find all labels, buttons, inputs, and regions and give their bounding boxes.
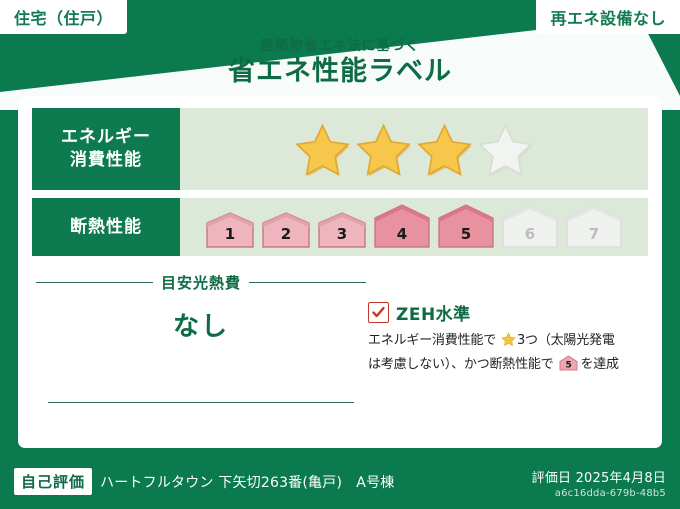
- insulation-grade-badge-number: 3: [316, 227, 368, 242]
- zeh-desc-part1: エネルギー消費性能で: [368, 333, 496, 348]
- zeh-desc-part3: は考慮しない）、かつ断熱性能で: [368, 357, 554, 372]
- property-name: ハートフルタウン 下矢切263番(亀戸) A号棟: [100, 472, 394, 492]
- insulation-performance-label: 断熱性能: [32, 198, 180, 256]
- label-footer: 自己評価 ハートフルタウン 下矢切263番(亀戸) A号棟 評価日 2025年4…: [0, 453, 680, 509]
- star-icon: [294, 122, 351, 177]
- insulation-grade-badge-3: 3: [316, 211, 368, 249]
- tab-building-type-label: 住宅（住戸）: [14, 5, 113, 29]
- insulation-grade-badge-number: 2: [260, 227, 312, 242]
- insulation-grade-badge-number: 6: [500, 227, 560, 242]
- self-evaluation-badge: 自己評価: [14, 468, 92, 495]
- insulation-grade-scale: 1234567: [204, 203, 624, 251]
- insulation-grade-badge-1: 1: [204, 211, 256, 249]
- insulation-grade-inline-badge: 5: [556, 360, 579, 375]
- tab-renewable-energy: 再エネ設備なし: [536, 0, 680, 34]
- insulation-performance-row: 断熱性能 1234567: [32, 198, 648, 256]
- utility-cost-bottom-rule: [48, 402, 354, 403]
- zeh-title: ZEH水準: [396, 300, 471, 325]
- utility-cost-rule-left: [36, 282, 153, 283]
- insulation-grade-badge-number: 7: [564, 227, 624, 242]
- tab-building-type: 住宅（住戸）: [0, 0, 127, 34]
- zeh-desc-part2: 3つ（太陽光発電: [517, 333, 615, 348]
- energy-performance-row: エネルギー 消費性能: [32, 108, 648, 190]
- insulation-grade-badge-number: 1: [204, 227, 256, 242]
- utility-cost-header: 目安光熱費: [36, 272, 366, 293]
- energy-performance-value: [180, 108, 648, 190]
- insulation-grade-badge-7: 7: [564, 203, 624, 249]
- title-main: 省エネ性能ラベル: [0, 55, 680, 89]
- star-icon: [355, 122, 412, 177]
- utility-cost-title: 目安光熱費: [161, 272, 241, 293]
- star-rating: [294, 122, 534, 177]
- utility-cost-value: なし: [36, 306, 366, 343]
- insulation-grade-badge-number: 4: [372, 227, 432, 242]
- insulation-grade-badge-6: 6: [500, 203, 560, 249]
- insulation-performance-label-text: 断熱性能: [70, 216, 142, 239]
- insulation-performance-value: 1234567: [180, 198, 648, 256]
- main-card: エネルギー 消費性能 断熱性能 1234567 目安光熱費 なし: [18, 96, 662, 448]
- check-icon: [368, 302, 389, 323]
- energy-performance-label: エネルギー 消費性能: [32, 108, 180, 190]
- evaluation-date: 評価日 2025年4月8日: [532, 467, 666, 486]
- insulation-grade-badge-5: 5: [436, 203, 496, 249]
- footer-right-group: 評価日 2025年4月8日 a6c16dda-679b-48b5: [532, 467, 666, 499]
- title-subtitle: 建築物省エネ法に基づく: [0, 38, 680, 54]
- insulation-grade-badge-2: 2: [260, 211, 312, 249]
- insulation-grade-badge-number: 5: [436, 227, 496, 242]
- zeh-desc-part4: を達成: [580, 357, 618, 372]
- energy-performance-label: 住宅（住戸） 再エネ設備なし 建築物省エネ法に基づく 省エネ性能ラベル エネルギ…: [0, 0, 680, 509]
- utility-cost-rule-right: [249, 282, 366, 283]
- insulation-grade-badge-4: 4: [372, 203, 432, 249]
- footer-left-group: 自己評価 ハートフルタウン 下矢切263番(亀戸) A号棟: [14, 468, 395, 495]
- zeh-header: ZEH水準: [368, 300, 648, 325]
- star-icon: [497, 336, 516, 351]
- star-icon: [477, 122, 534, 177]
- label-title-block: 建築物省エネ法に基づく 省エネ性能ラベル: [0, 38, 680, 89]
- tab-renewable-energy-label: 再エネ設備なし: [550, 5, 666, 29]
- svg-text:5: 5: [566, 360, 572, 370]
- star-icon: [416, 122, 473, 177]
- zeh-description: エネルギー消費性能で 3つ（太陽光発電 は考慮しない）、かつ断熱性能で 5 を達…: [368, 331, 648, 379]
- energy-performance-label-line1: エネルギー: [61, 126, 151, 149]
- energy-performance-label-line2: 消費性能: [70, 149, 142, 172]
- evaluation-id: a6c16dda-679b-48b5: [532, 488, 666, 499]
- zeh-standard-block: ZEH水準 エネルギー消費性能で 3つ（太陽光発電 は考慮しない）、かつ断熱性能…: [368, 300, 648, 379]
